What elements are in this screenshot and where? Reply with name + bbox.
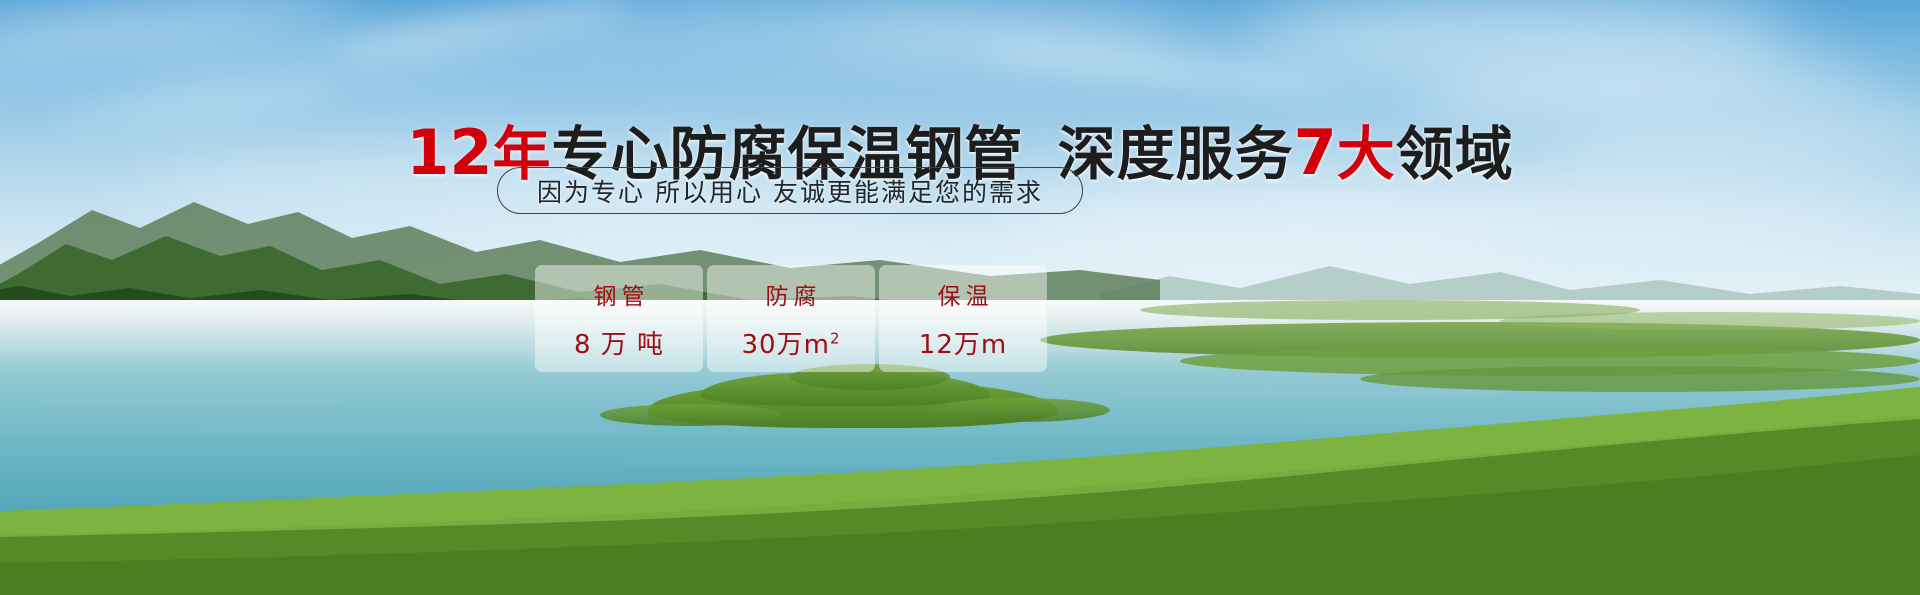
stat-card-value-superscript: 2 — [830, 329, 841, 347]
stat-card-value: 12万m — [919, 324, 1007, 361]
stat-card-steel-pipe: 钢管 8 万 吨 — [535, 265, 703, 372]
subtitle-text: 因为专心 所以用心 友诚更能满足您的需求 — [537, 173, 1043, 209]
hero-banner: 12年专心防腐保温钢管深度服务7大领域 因为专心 所以用心 友诚更能满足您的需求… — [0, 0, 1920, 595]
stat-card-insulation: 保温 12万m — [879, 265, 1047, 372]
headline-years-number: 12 — [406, 116, 492, 189]
stat-card-anticorrosion: 防腐 30万m2 — [707, 265, 875, 372]
stat-card-value-text: 12万m — [919, 330, 1007, 360]
stat-card-value: 8 万 吨 — [574, 324, 664, 361]
headline-fields-number: 7 — [1294, 116, 1337, 189]
stat-card-group: 钢管 8 万 吨 防腐 30万m2 保温 12万m — [535, 265, 1047, 372]
subtitle-pill: 因为专心 所以用心 友诚更能满足您的需求 — [497, 167, 1083, 214]
stat-card-label: 钢管 — [589, 277, 650, 311]
stat-card-value: 30万m2 — [742, 324, 841, 361]
stat-card-value-text: 8 万 吨 — [574, 330, 664, 360]
stat-card-label: 保温 — [933, 277, 994, 311]
marsh-patch — [1500, 312, 1920, 330]
headline-fields-unit: 大 — [1337, 120, 1396, 188]
headline-fields-suffix: 领域 — [1396, 120, 1514, 188]
stat-card-value-text: 30万m — [742, 330, 830, 360]
stat-card-label: 防腐 — [761, 277, 822, 311]
grass-highlight — [0, 385, 1920, 595]
headline-service-phrase: 深度服务 — [1058, 120, 1294, 188]
